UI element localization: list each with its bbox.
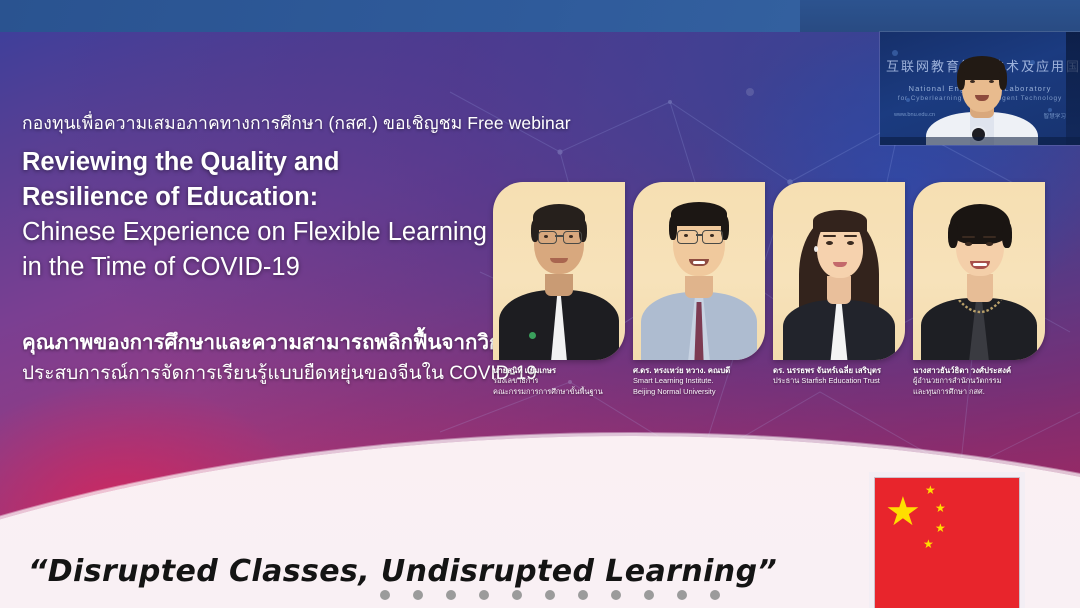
speaker-role-2: คณะกรรมการการศึกษาขั้นพื้นฐาน	[493, 387, 625, 397]
title-line-2: Resilience of Education:	[22, 180, 487, 215]
flag-star-small: ★	[925, 484, 936, 496]
speaker-caption: ศ.ดร. หรงเหว่ย หวาง. คณบดี Smart Learnin…	[633, 366, 765, 397]
speaker-photo	[773, 182, 905, 360]
speaker-caption: นายสนิท แย้มเกษร รองเลขาธิการ คณะกรรมการ…	[493, 366, 625, 397]
webcam-banner-url-left: www.bnu.edu.cn	[894, 112, 935, 118]
slide-subtitle: คุณภาพของการศึกษาและความสามารถพลิกฟื้นจา…	[22, 327, 537, 389]
dot	[545, 590, 555, 600]
speaker-role-2: Beijing Normal University	[633, 387, 765, 397]
dot	[644, 590, 654, 600]
slide-quote: “Disrupted Classes, Undisrupted Learning…	[28, 554, 777, 589]
speaker-photo	[633, 182, 765, 360]
dot-row	[380, 590, 720, 602]
speaker-card: นายสนิท แย้มเกษร รองเลขาธิการ คณะกรรมการ…	[493, 182, 625, 414]
speaker-name: ศ.ดร. หรงเหว่ย หวาง. คณบดี	[633, 366, 765, 376]
dot	[479, 590, 489, 600]
china-flag-icon: ★ ★ ★ ★ ★	[875, 478, 1019, 608]
speaker-card: ดร. นรรธพร จันทร์เฉลี่ย เสริบุตร ประธาน …	[773, 182, 905, 414]
speaker-caption: นางสาวธันว์ธิดา วงศ์ประสงค์ ผู้อำนวยการส…	[913, 366, 1045, 397]
speaker-photo	[913, 182, 1045, 360]
speaker-role-1: รองเลขาธิการ	[493, 376, 625, 386]
flag-star-small: ★	[935, 502, 946, 514]
flag-star-small: ★	[923, 538, 934, 550]
flag-star-large: ★	[885, 492, 921, 532]
speaker-name: นางสาวธันว์ธิดา วงศ์ประสงค์	[913, 366, 1045, 376]
subtitle-line-1: คุณภาพของการศึกษาและความสามารถพลิกฟื้นจา…	[22, 327, 537, 358]
dot	[710, 590, 720, 600]
title-line-1: Reviewing the Quality and	[22, 145, 487, 180]
speaker-role-2: และทุนการศึกษา กสศ.	[913, 387, 1045, 397]
speaker-name: ดร. นรรธพร จันทร์เฉลี่ย เสริบุตร	[773, 366, 905, 376]
speaker-role-1: ประธาน Starfish Education Trust	[773, 376, 905, 386]
speaker-photo	[493, 182, 625, 360]
slide-kicker: กองทุนเพื่อความเสมอภาคทางการศึกษา (กสศ.)…	[22, 109, 571, 137]
webcam-desk-edge	[880, 137, 1080, 145]
flag-star-small: ★	[935, 522, 946, 534]
screen-share-view: กองทุนเพื่อความเสมอภาคทางการศึกษา (กสศ.)…	[0, 0, 1080, 608]
title-line-3: Chinese Experience on Flexible Learning	[22, 215, 487, 250]
dot	[413, 590, 423, 600]
webcam-right-panel	[1066, 32, 1080, 145]
speaker-list: นายสนิท แย้มเกษร รองเลขาธิการ คณะกรรมการ…	[493, 182, 1063, 414]
speaker-role-1: ผู้อำนวยการสำนักนวัตกรรม	[913, 376, 1045, 386]
dot	[611, 590, 621, 600]
speaker-name: นายสนิท แย้มเกษร	[493, 366, 625, 376]
speaker-role-1: Smart Learning Institute.	[633, 376, 765, 386]
speaker-caption: ดร. นรรธพร จันทร์เฉลี่ย เสริบุตร ประธาน …	[773, 366, 905, 387]
dot	[512, 590, 522, 600]
subtitle-line-2: ประสบการณ์การจัดการเรียนรู้แบบยืดหยุ่นขอ…	[22, 358, 537, 389]
title-line-4: in the Time of COVID-19	[22, 250, 487, 285]
dot	[380, 590, 390, 600]
dot	[446, 590, 456, 600]
dot	[578, 590, 588, 600]
dot	[677, 590, 687, 600]
speaker-card: ศ.ดร. หรงเหว่ย หวาง. คณบดี Smart Learnin…	[633, 182, 765, 414]
china-flag-frame: ★ ★ ★ ★ ★	[869, 472, 1025, 608]
webcam-banner-url-right: 智慧学习	[1044, 112, 1066, 120]
slide-title: Reviewing the Quality and Resilience of …	[22, 145, 487, 285]
speaker-card: นางสาวธันว์ธิดา วงศ์ประสงค์ ผู้อำนวยการส…	[913, 182, 1045, 414]
webcam-pip-tile[interactable]: 互联网教育智能技术及应用国家工程实验室 National Engineering…	[880, 32, 1080, 145]
